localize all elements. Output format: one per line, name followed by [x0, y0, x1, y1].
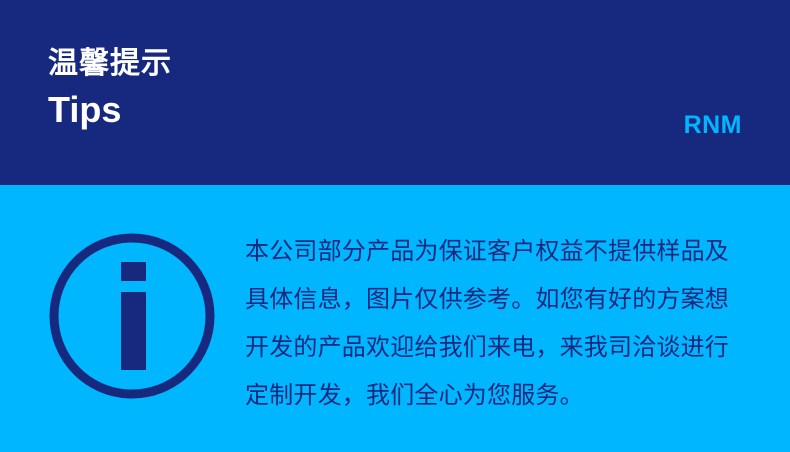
info-circle-icon — [49, 233, 215, 399]
notice-text-block: 本公司部分产品为保证客户权益不提供样品及 具体信息，图片仅供参考。如您有好的方案… — [245, 228, 745, 420]
notice-line: 本公司部分产品为保证客户权益不提供样品及 — [245, 228, 745, 276]
page-title-en: Tips — [48, 88, 172, 132]
notice-line: 定制开发，我们全心为您服务。 — [245, 372, 745, 420]
header-title-group: 温馨提示 Tips — [48, 44, 172, 132]
header-band: 温馨提示 Tips RNM — [0, 0, 790, 185]
notice-line: 具体信息，图片仅供参考。如您有好的方案想 — [245, 276, 745, 324]
page-title-cn: 温馨提示 — [48, 44, 172, 84]
tips-notice-banner: 温馨提示 Tips RNM 本公司部分产品为保证客户权益不提供样品及 具体信息，… — [0, 0, 790, 452]
body-band: 本公司部分产品为保证客户权益不提供样品及 具体信息，图片仅供参考。如您有好的方案… — [0, 185, 790, 452]
brand-logo: RNM — [684, 110, 742, 140]
notice-line: 开发的产品欢迎给我们来电，来我司洽谈进行 — [245, 324, 745, 372]
